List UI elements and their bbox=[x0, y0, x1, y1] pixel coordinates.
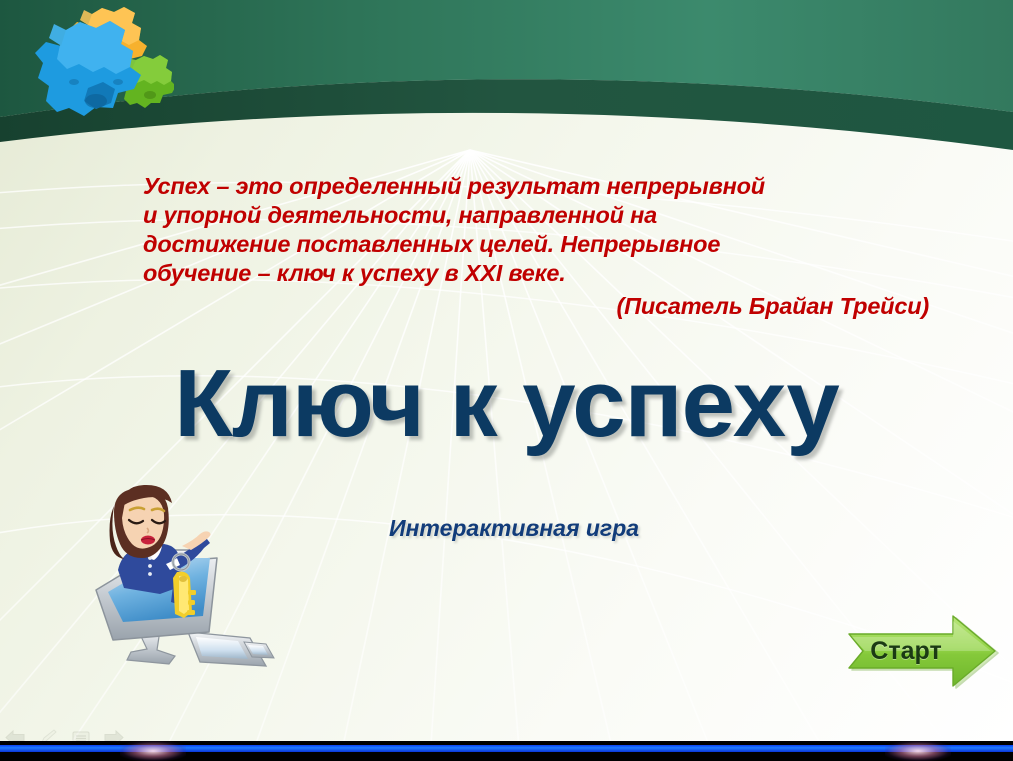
slideshow-menu-icon[interactable] bbox=[70, 729, 92, 741]
quote-line-2: и упорной деятельности, направленной на bbox=[143, 202, 657, 228]
previous-slide-icon[interactable] bbox=[4, 729, 26, 741]
taskbar-glow-right bbox=[885, 741, 951, 761]
quote-attribution: (Писатель Брайан Трейси) bbox=[143, 292, 933, 321]
quote-line-3: достижение поставленных целей. Непрерывн… bbox=[143, 231, 720, 257]
woman-with-key-on-computer-illustration bbox=[78, 484, 288, 684]
presentation-slide: Успех – это определенный результат непре… bbox=[0, 0, 1013, 741]
quote-line-1: Успех – это определенный результат непре… bbox=[143, 173, 765, 199]
keyboard bbox=[188, 632, 274, 666]
subtitle: Интерактивная игра bbox=[389, 515, 639, 542]
puzzle-pieces-logo bbox=[14, 2, 174, 152]
taskbar-glow-left bbox=[120, 741, 186, 761]
next-slide-icon[interactable] bbox=[103, 729, 125, 741]
pen-icon[interactable] bbox=[37, 729, 59, 741]
quote-line-4: обучение – ключ к успеху в XXI веке. bbox=[143, 260, 566, 286]
page-title: Ключ к успеху bbox=[0, 352, 1013, 456]
quote-block: Успех – это определенный результат непре… bbox=[143, 172, 933, 321]
start-button-label[interactable]: Старт bbox=[845, 612, 967, 690]
start-button[interactable]: Старт bbox=[845, 612, 1000, 690]
taskbar[interactable] bbox=[0, 741, 1013, 761]
slideshow-controls[interactable] bbox=[4, 729, 125, 741]
